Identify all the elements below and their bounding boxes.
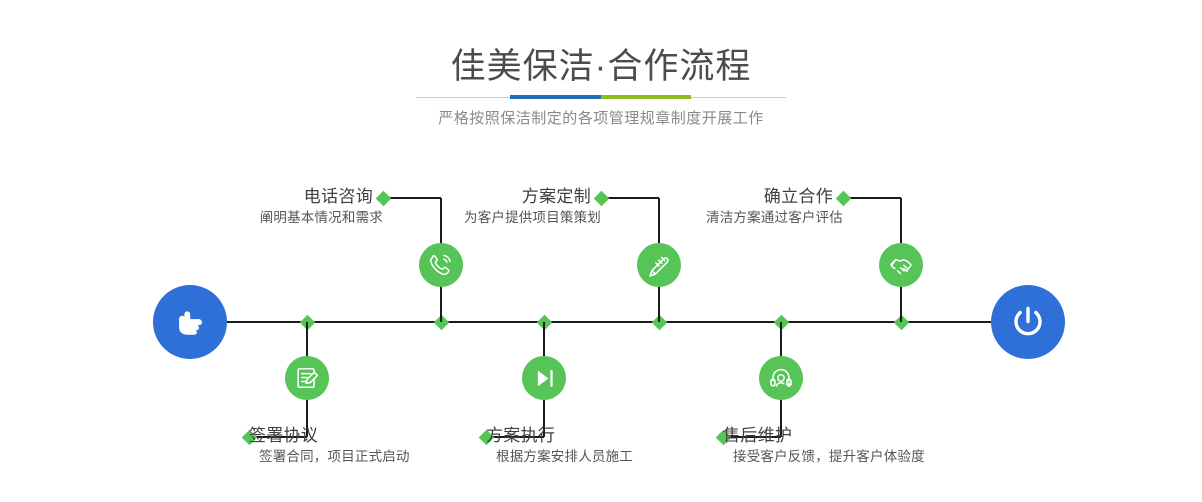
phone-call-icon [426, 250, 456, 280]
step-phone-consult-icon-node[interactable] [419, 243, 463, 287]
power-icon [1007, 301, 1049, 343]
page-subtitle: 严格按照保洁制定的各项管理规章制度开展工作 [0, 108, 1202, 130]
step-plan-custom-label: 方案定制为客户提供项目策策划 [464, 185, 601, 228]
divider-segment-green [601, 95, 691, 99]
step-phone-consult-title: 电话咨询 [260, 185, 383, 208]
timeline-start-endpoint [153, 285, 227, 359]
step-after-sales-desc: 接受客户反馈，提升客户体验度 [723, 447, 925, 467]
step-after-sales-title: 售后维护 [723, 424, 925, 447]
headset-support-icon [766, 363, 796, 393]
step-phone-consult-desc: 阐明基本情况和需求 [260, 208, 383, 228]
pencil-ruler-icon [644, 250, 674, 280]
step-plan-execute-label: 方案执行根据方案安排人员施工 [486, 424, 633, 467]
divider-segment-blue [510, 95, 601, 99]
step-after-sales-icon-node[interactable] [759, 356, 803, 400]
step-plan-custom-desc: 为客户提供项目策策划 [464, 208, 601, 228]
step-phone-consult-label: 电话咨询阐明基本情况和需求 [260, 185, 383, 228]
step-plan-execute-desc: 根据方案安排人员施工 [486, 447, 633, 467]
step-sign-agreement-label: 签署协议签署合同，项目正式启动 [249, 424, 410, 467]
page-title: 佳美保洁·合作流程 [0, 44, 1202, 90]
document-edit-icon [292, 363, 322, 393]
step-establish-cooperation-icon-node[interactable] [879, 243, 923, 287]
flow-diagram-canvas: 佳美保洁·合作流程 严格按照保洁制定的各项管理规章制度开展工作 电话咨询阐明基本… [0, 0, 1202, 502]
step-plan-execute-title: 方案执行 [486, 424, 633, 447]
timeline-end-endpoint [991, 285, 1065, 359]
step-sign-agreement-icon-node[interactable] [285, 356, 329, 400]
step-after-sales-label: 售后维护接受客户反馈，提升客户体验度 [723, 424, 925, 467]
play-next-icon [529, 363, 559, 393]
handshake-icon [886, 250, 916, 280]
step-plan-custom-icon-node[interactable] [637, 243, 681, 287]
step-establish-cooperation-desc: 清洁方案通过客户评估 [706, 208, 843, 228]
step-establish-cooperation-title: 确立合作 [706, 185, 843, 208]
pointing-hand-icon [170, 302, 210, 342]
step-establish-cooperation-label: 确立合作清洁方案通过客户评估 [706, 185, 843, 228]
step-sign-agreement-title: 签署协议 [249, 424, 410, 447]
step-plan-execute-icon-node[interactable] [522, 356, 566, 400]
step-sign-agreement-desc: 签署合同，项目正式启动 [249, 447, 410, 467]
step-plan-custom-title: 方案定制 [464, 185, 601, 208]
